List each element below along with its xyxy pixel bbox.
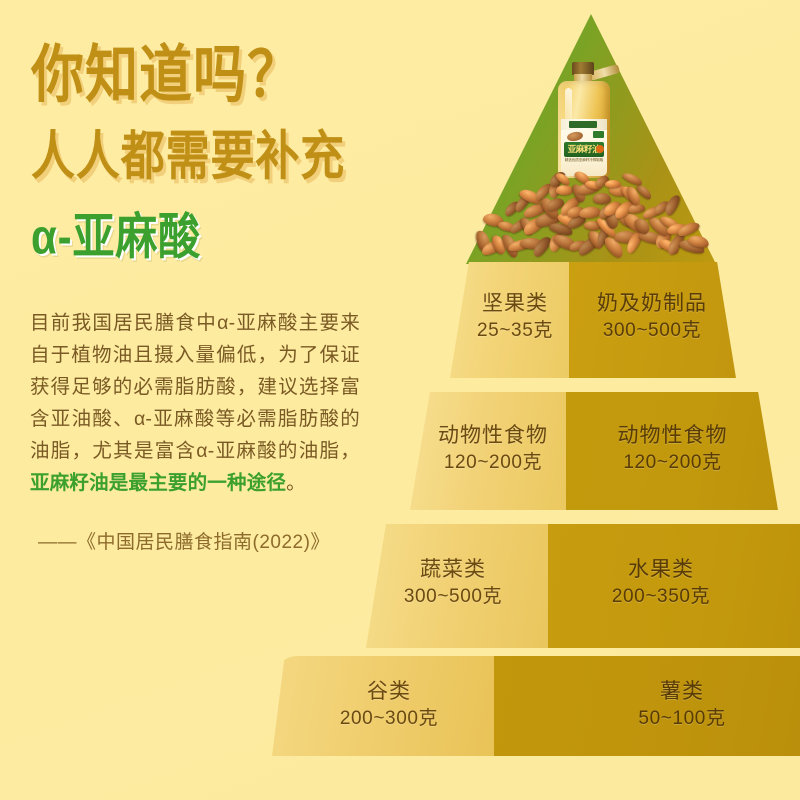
flax-seed [622,171,645,187]
tier-3-left-label: 蔬菜类 300~500克 [378,556,528,610]
bottle-brand-logo-icon [593,131,604,138]
poster-canvas: 亚麻籽油 精选优质亚麻籽冷榨制取 坚果类 25~35克 奶及奶制品 300~50… [0,0,800,800]
tier-2-right-amount: 120~200克 [575,450,770,475]
body-paragraph-part2: 。 [286,472,306,494]
tier-3-left-name: 蔬菜类 [378,556,528,584]
bottle-label-top [561,119,607,130]
bottle-badge-icon [596,145,604,153]
flax-seed-pile [478,168,706,266]
headline-line-2: 人人都需要补充 [31,131,345,184]
pyramid-tier-1: 坚果类 25~35克 奶及奶制品 300~500克 [450,262,736,378]
flax-seed [605,180,621,188]
tier-2-right-name: 动物性食物 [575,422,770,450]
tier-1-left-name: 坚果类 [460,290,570,318]
tier-4-right-amount: 50~100克 [602,706,762,731]
tier-3-right-label: 水果类 200~350克 [581,556,741,610]
body-paragraph-part1: 目前我国居民膳食中α-亚麻酸主要来自于植物油且摄入量偏低，为了保证获得足够的必需… [30,312,360,462]
flaxseed-oil-bottle: 亚麻籽油 精选优质亚麻籽冷榨制取 [556,62,612,178]
tier-1-right-amount: 300~500克 [572,318,732,343]
bottle-sub-text: 精选优质亚麻籽冷榨制取 [564,158,604,163]
tier-2-left-name: 动物性食物 [418,422,568,450]
tier-1-right-label: 奶及奶制品 300~500克 [572,290,732,344]
flax-seed [556,185,573,195]
tier-2-left-label: 动物性食物 120~200克 [418,422,568,476]
tier-3-right-name: 水果类 [581,556,741,584]
tier-4-right-label: 薯类 50~100克 [602,678,762,732]
left-text-column: 你知道吗？ 人人都需要补充 α-亚麻酸 目前我国居民膳食中α-亚麻酸主要来自于植… [0,0,400,800]
tier-3-right-amount: 200~350克 [581,584,741,609]
bottle-label-chip [569,121,597,128]
body-paragraph-highlight: 亚麻籽油是最主要的一种途径 [30,472,286,494]
pyramid-tier-3: 蔬菜类 300~500克 水果类 200~350克 [366,524,800,648]
body-paragraph: 目前我国居民膳食中α-亚麻酸主要来自于植物油且摄入量偏低，为了保证获得足够的必需… [30,307,360,499]
flax-seed [662,193,681,217]
source-citation: ——《中国居民膳食指南(2022)》 [38,527,330,554]
tier-2-left-amount: 120~200克 [418,450,568,475]
tier-1-left-label: 坚果类 25~35克 [460,290,570,344]
bottle-label-seed-icon [566,131,583,143]
headline-line-1: 你知道吗？ [31,44,301,107]
headline-line-3: α-亚麻酸 [31,212,201,262]
tier-4-right-name: 薯类 [602,678,762,706]
tier-2-right-label: 动物性食物 120~200克 [575,422,770,476]
tier-3-left-amount: 300~500克 [378,584,528,609]
tier-1-left-amount: 25~35克 [460,318,570,343]
pyramid-tier-2: 动物性食物 120~200克 动物性食物 120~200克 [410,392,778,510]
tier-1-right-name: 奶及奶制品 [572,290,732,318]
